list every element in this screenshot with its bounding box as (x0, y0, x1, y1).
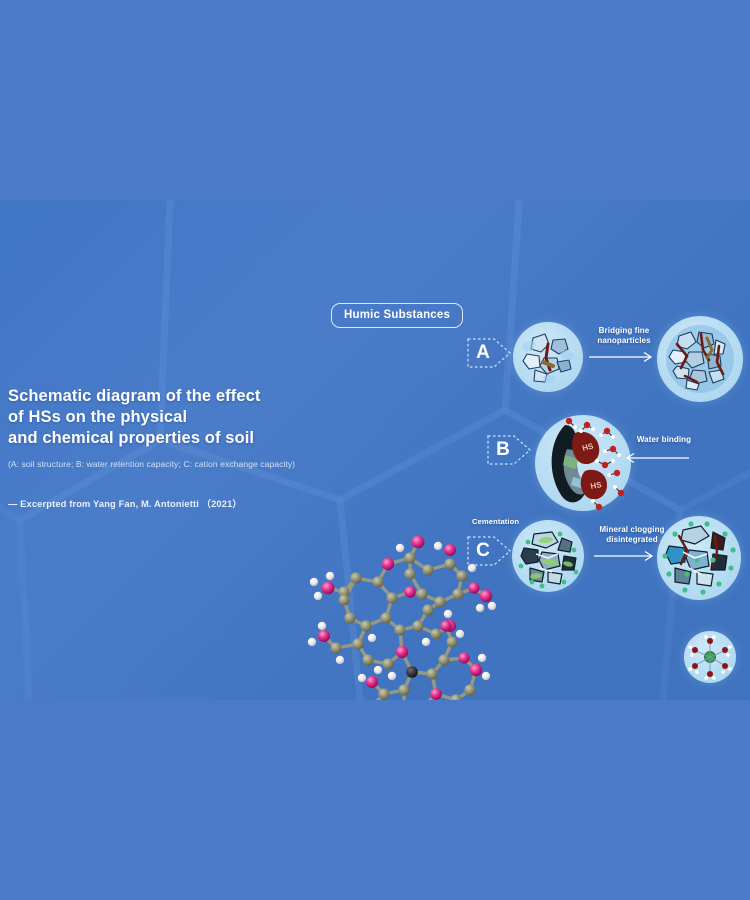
title-line-1: Schematic diagram of the effect (8, 386, 338, 407)
title-subtitle: (A: soil structure; B: water retention c… (8, 458, 338, 470)
letterbox-bottom (0, 700, 750, 900)
title-line-3: and chemical properties of soil (8, 428, 338, 449)
caption-block: Schematic diagram of the effect of HSs o… (8, 386, 338, 510)
row-b-arrow-left (625, 451, 689, 465)
row-a-arrow-right (589, 350, 659, 364)
row-b-hydrated-cation-disc (684, 631, 736, 683)
row-b-letter: B (486, 430, 520, 470)
row-a-arrow-label: Bridging fine nanoparticles (588, 326, 660, 346)
infographic-stage: A (0, 0, 750, 900)
row-a-letter: A (466, 333, 500, 373)
title-line-2: of HSs on the physical (8, 407, 338, 428)
row-a-left-aggregate-disc (513, 322, 583, 392)
row-b-hs-water-disc: HS HS (535, 415, 631, 511)
row-c-right-disintegrated-disc (657, 516, 741, 600)
row-c-letter: C (466, 531, 500, 571)
row-c-chevron-badge: C (466, 531, 512, 571)
row-a-chevron-badge: A (466, 333, 512, 373)
row-c-arrow-right (594, 549, 660, 563)
row-a-right-aggregate-disc (657, 316, 743, 402)
artwork-panel: A (0, 200, 750, 700)
page-title: Schematic diagram of the effect of HSs o… (8, 386, 338, 449)
row-b-arrow-label: Water binding (627, 435, 701, 445)
source-credit: — Excerpted from Yang Fan, M. Antonietti… (8, 496, 338, 510)
row-c-left-clogged-disc (512, 520, 584, 592)
humic-substances-label: Humic Substances (331, 303, 463, 328)
row-b-chevron-badge: B (486, 430, 532, 470)
letterbox-top (0, 0, 750, 200)
